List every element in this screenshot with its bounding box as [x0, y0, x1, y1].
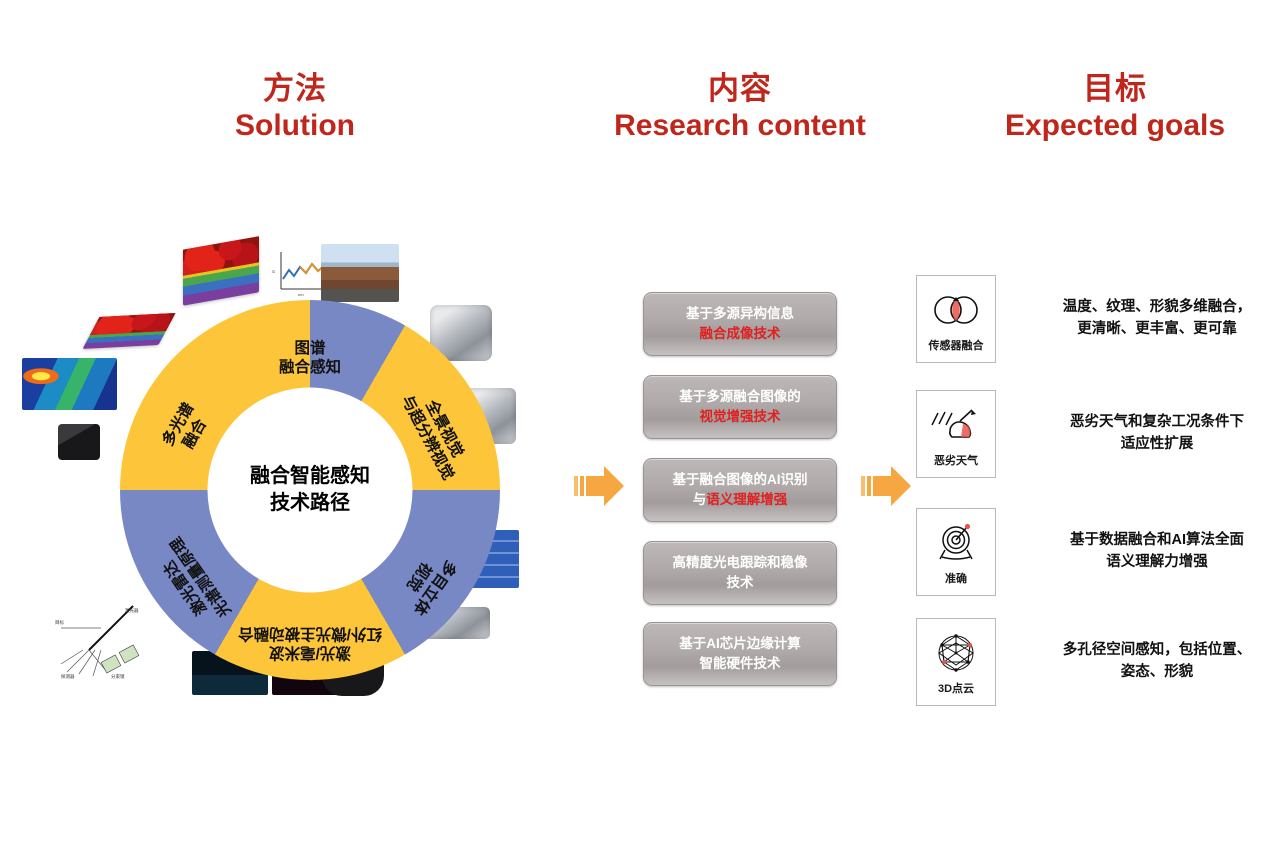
arrow-content-to-goals: [859, 462, 915, 510]
goal-icon-caption: 传感器融合: [929, 337, 984, 353]
goal-text: 恶劣天气和复杂工况条件下 适应性扩展: [1024, 412, 1268, 456]
sensor-fusion-icon: [930, 285, 982, 335]
content-box-line: 智能硬件技术: [679, 654, 801, 674]
content-box-line: 基于多源融合图像的: [679, 387, 801, 407]
header-cn: 方法: [150, 72, 440, 107]
goal-text-line1: 温度、纹理、形貌多维融合，: [1024, 297, 1268, 319]
center-line2: 技术路径: [210, 490, 410, 517]
content-box-line-plain: 基于多源融合图像的: [679, 389, 801, 404]
center-line1: 融合智能感知: [210, 463, 410, 490]
goal-icon-caption: 恶劣天气: [934, 452, 978, 468]
goal-row-point-cloud: 3D点云 多孔径空间感知，包括位置、 姿态、形貌: [916, 618, 1268, 706]
content-box-text: 基于AI芯片边缘计算智能硬件技术: [679, 634, 801, 673]
goal-text-line2: 适应性扩展: [1024, 434, 1268, 456]
thermal-image: [22, 358, 117, 410]
content-box-line: 高精度光电跟踪和稳像: [673, 553, 808, 573]
target-accuracy-icon: [930, 518, 982, 568]
goal-icon-card[interactable]: 3D点云: [916, 618, 996, 706]
donut-center-label: 融合智能感知 技术路径: [210, 463, 410, 517]
goal-text: 多孔径空间感知，包括位置、 姿态、形貌: [1024, 640, 1268, 684]
content-box-line-highlight: 视觉增强技术: [700, 409, 781, 424]
content-box-2[interactable]: 基于多源融合图像的视觉增强技术: [643, 375, 837, 439]
header-en: Solution: [150, 109, 440, 143]
header-cn: 内容: [595, 72, 885, 107]
goal-row-accuracy: 准确 基于数据融合和AI算法全面 语义理解力增强: [916, 508, 1268, 596]
column-header-solution: 方法 Solution: [150, 72, 440, 142]
svg-text:nm: nm: [298, 292, 304, 297]
content-box-line-plain: 智能硬件技术: [700, 656, 781, 671]
content-box-line: 视觉增强技术: [679, 407, 801, 427]
content-box-5[interactable]: 基于AI芯片边缘计算智能硬件技术: [643, 622, 837, 686]
content-box-line: 融合成像技术: [686, 324, 794, 344]
column-header-expected-goals: 目标 Expected goals: [970, 72, 1260, 142]
goal-text: 温度、纹理、形貌多维融合， 更清晰、更丰富、更可靠: [1024, 297, 1268, 341]
goal-icon-caption: 3D点云: [938, 680, 974, 696]
svg-text:探测器: 探测器: [61, 673, 75, 680]
goal-icon-card[interactable]: 准确: [916, 508, 996, 596]
content-box-text: 基于多源融合图像的视觉增强技术: [679, 387, 801, 426]
content-box-line: 技术: [673, 573, 808, 593]
goal-icon-card[interactable]: 恶劣天气: [916, 390, 996, 478]
content-box-line-plain: 基于AI芯片边缘计算: [679, 636, 801, 651]
svg-text:目标: 目标: [55, 619, 64, 626]
content-box-line-highlight: 融合成像技术: [700, 326, 781, 341]
goal-text-line1: 基于数据融合和AI算法全面: [1024, 530, 1268, 552]
goal-row-bad-weather: 恶劣天气 恶劣天气和复杂工况条件下 适应性扩展: [916, 390, 1268, 478]
goal-text-line1: 恶劣天气和复杂工况条件下: [1024, 412, 1268, 434]
goal-text-line2: 语义理解力增强: [1024, 552, 1268, 574]
content-box-text: 基于融合图像的AI识别与语义理解增强: [673, 470, 808, 509]
header-cn: 目标: [970, 72, 1260, 107]
hyperspectral-cube-top: [183, 236, 259, 305]
header-en: Research content: [595, 109, 885, 143]
content-box-line: 与语义理解增强: [673, 490, 808, 510]
content-box-line-highlight: 语义理解增强: [706, 492, 787, 507]
goal-text-line2: 更清晰、更丰富、更可靠: [1024, 319, 1268, 341]
point-cloud-icon: [930, 628, 982, 678]
content-box-3[interactable]: 基于融合图像的AI识别与语义理解增强: [643, 458, 837, 522]
goal-text-line1: 多孔径空间感知，包括位置、: [1024, 640, 1268, 662]
content-box-line-plain: 基于多源异构信息: [686, 306, 794, 321]
content-box-4[interactable]: 高精度光电跟踪和稳像技术: [643, 541, 837, 605]
goal-icon-caption: 准确: [945, 570, 967, 586]
header-en: Expected goals: [970, 109, 1260, 143]
content-box-line-plain: 高精度光电跟踪和稳像: [673, 555, 808, 570]
thermal-camera: [58, 424, 100, 460]
content-box-line: 基于多源异构信息: [686, 304, 794, 324]
arrow-solution-to-content: [572, 462, 628, 510]
goal-text: 基于数据融合和AI算法全面 语义理解力增强: [1024, 530, 1268, 574]
goal-row-sensor-fusion: 传感器融合 温度、纹理、形貌多维融合， 更清晰、更丰富、更可靠: [916, 275, 1268, 363]
goal-text-line2: 姿态、形貌: [1024, 662, 1268, 684]
content-box-1[interactable]: 基于多源异构信息融合成像技术: [643, 292, 837, 356]
goal-icon-card[interactable]: 传感器融合: [916, 275, 996, 363]
diagram-canvas: 方法 Solution 内容 Research content 目标 Expec…: [0, 0, 1268, 866]
content-box-line-plain: 基于融合图像的AI识别: [673, 472, 808, 487]
content-box-text: 基于多源异构信息融合成像技术: [686, 304, 794, 343]
content-box-line-plain: 与: [693, 492, 707, 507]
content-box-line-plain: 技术: [727, 575, 754, 590]
content-box-text: 高精度光电跟踪和稳像技术: [673, 553, 808, 592]
content-box-line: 基于AI芯片边缘计算: [679, 634, 801, 654]
column-header-research-content: 内容 Research content: [595, 72, 885, 142]
svg-text:R: R: [272, 270, 276, 273]
content-box-line: 基于融合图像的AI识别: [673, 470, 808, 490]
technology-roadmap-donut: 融合智能感知 技术路径 图谱融合感知全景视觉与超分辨视觉多目立体视觉激光/毫米波…: [120, 300, 500, 680]
pipeline-inspection-photo: [321, 244, 399, 302]
bad-weather-icon: [930, 400, 982, 450]
